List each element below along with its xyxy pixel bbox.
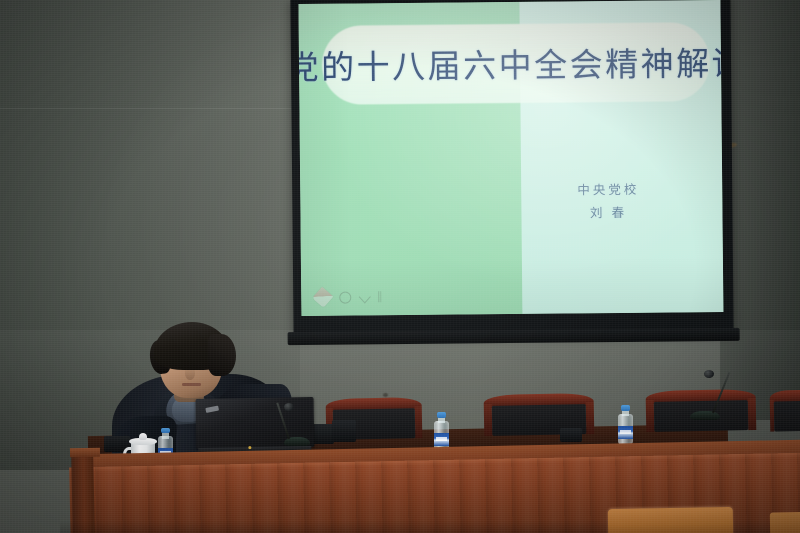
foreground-chair-secondary bbox=[770, 511, 800, 533]
microphone-capsule bbox=[704, 370, 714, 378]
bottle-label bbox=[434, 433, 449, 447]
bottle-cap bbox=[161, 428, 171, 433]
chair-side-right bbox=[415, 406, 422, 438]
slide-subtitle-line1: 中央党校 bbox=[532, 178, 684, 203]
desk-equipment bbox=[560, 428, 582, 442]
conference-chair bbox=[770, 389, 800, 438]
chair-back-pad bbox=[774, 401, 800, 432]
menu-icon[interactable] bbox=[378, 291, 381, 302]
pen-icon[interactable] bbox=[312, 287, 333, 308]
microphone-base bbox=[690, 411, 720, 420]
presenter-hair-back bbox=[208, 334, 236, 376]
laptop-status-led bbox=[248, 446, 251, 449]
bottle-neck bbox=[622, 410, 629, 416]
bottle-neck bbox=[162, 433, 169, 439]
bottle-cap bbox=[437, 412, 447, 418]
presenter-mouth bbox=[182, 383, 201, 386]
water-bottle[interactable] bbox=[618, 405, 633, 445]
microphone-capsule bbox=[284, 403, 294, 411]
chair-side-right bbox=[586, 402, 594, 434]
chair-side-left bbox=[484, 404, 492, 436]
bottle-cap bbox=[621, 405, 631, 411]
projection-screen: 党的十八届六中全会精神解读 中央党校 刘 春 bbox=[290, 0, 733, 336]
lecture-hall-photo: 党的十八届六中全会精神解读 中央党校 刘 春 bbox=[0, 0, 800, 533]
slide-subtitle: 中央党校 刘 春 bbox=[532, 178, 684, 226]
wall-spot-mark bbox=[383, 393, 388, 397]
bottle-label bbox=[618, 426, 633, 440]
foreground-chair bbox=[608, 507, 734, 533]
circle-icon[interactable] bbox=[339, 291, 351, 303]
powerpoint-presenter-toolbar[interactable] bbox=[315, 289, 381, 305]
teacup-lid-knob bbox=[139, 433, 147, 440]
chair-side-left bbox=[646, 400, 654, 432]
gooseneck-microphone bbox=[690, 368, 720, 420]
gooseneck-microphone bbox=[284, 400, 310, 446]
wall-seam bbox=[0, 108, 300, 109]
projected-slide: 党的十八届六中全会精神解读 中央党校 刘 春 bbox=[298, 0, 723, 316]
bottle-neck bbox=[438, 417, 445, 423]
dais-left-cap bbox=[70, 448, 100, 458]
slide-subtitle-line2: 刘 春 bbox=[532, 201, 684, 226]
chair-side-right bbox=[748, 398, 756, 430]
caret-icon[interactable] bbox=[358, 290, 370, 303]
slide-title: 党的十八届六中全会精神解读 bbox=[324, 27, 709, 99]
desk-equipment bbox=[332, 420, 356, 442]
